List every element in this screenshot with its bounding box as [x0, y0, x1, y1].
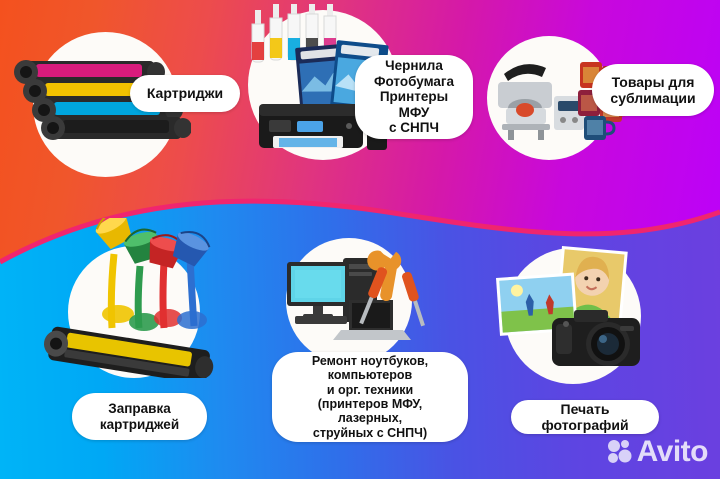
label-cartridges: Картриджи: [130, 75, 240, 112]
label-ink-printers: Чернила Фотобумага Принтеры МФУ с СНПЧ: [355, 55, 473, 139]
label-photo-print: Печать фотографий: [511, 400, 659, 434]
promo-banner: Картриджи: [0, 0, 720, 479]
computer-laptop-tools-icon: [283, 240, 433, 365]
avito-wordmark: Avito: [637, 435, 708, 469]
dslr-camera-and-photos-icon: [492, 244, 662, 384]
label-sublimation: Товары для сублимации: [592, 64, 714, 116]
label-refill: Заправка картриджей: [72, 393, 207, 440]
label-repair: Ремонт ноутбуков, компьютеров и орг. тех…: [272, 352, 468, 442]
avito-watermark: Avito: [606, 435, 708, 469]
avito-dots-icon: [606, 439, 632, 465]
paint-buckets-over-cartridge-icon: [40, 218, 225, 378]
